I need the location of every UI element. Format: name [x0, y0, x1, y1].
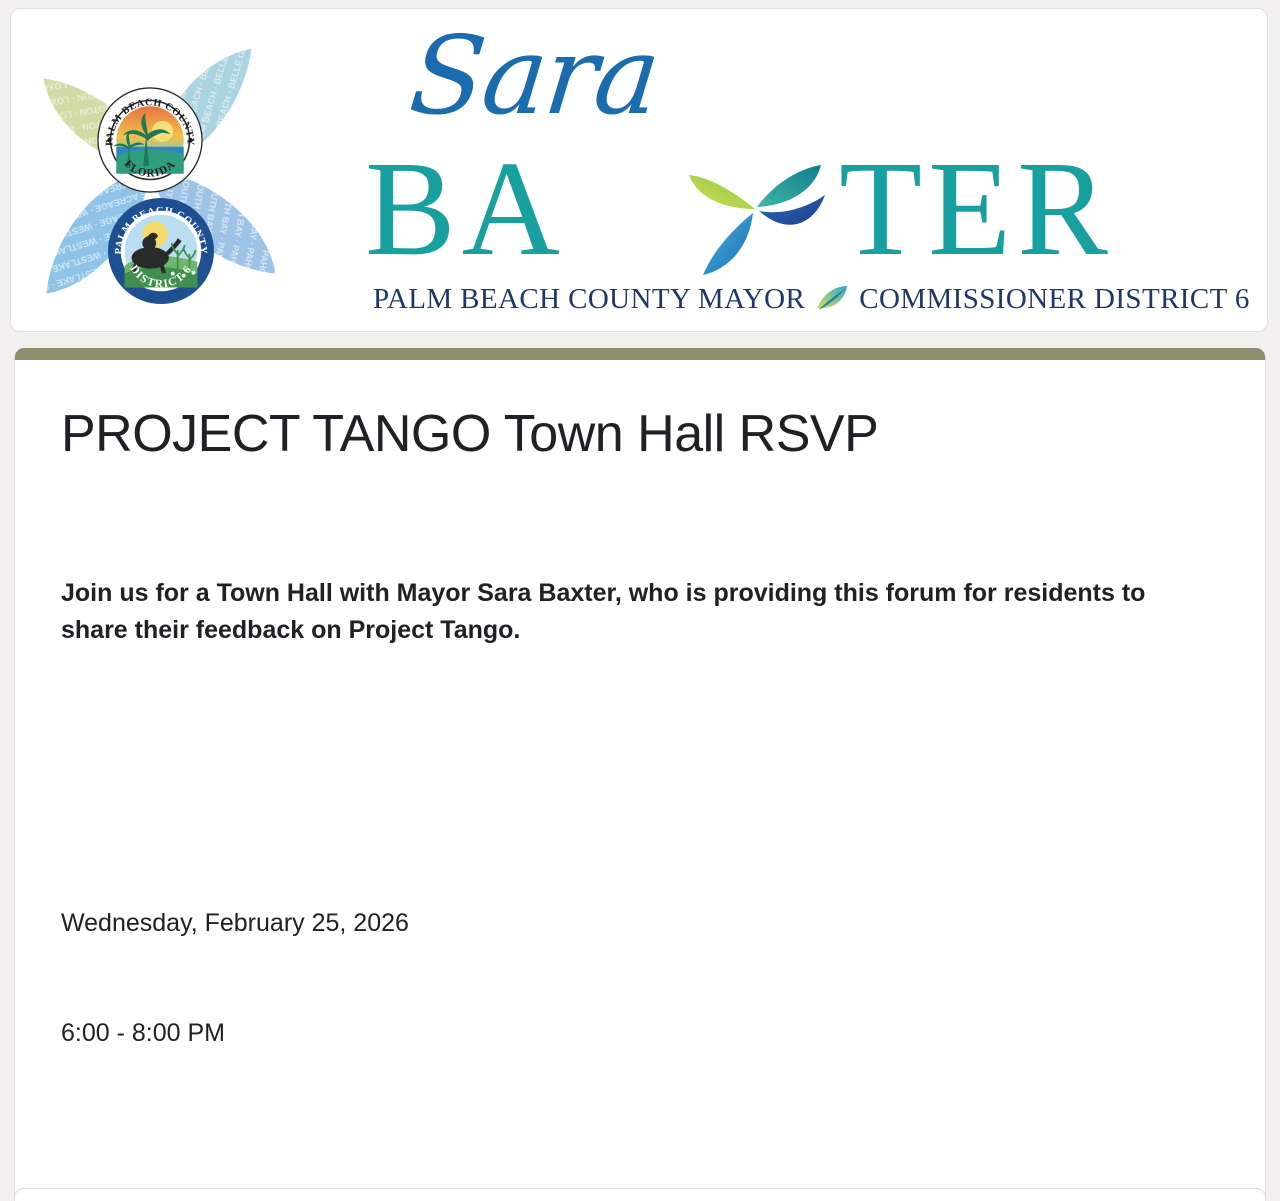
palm-beach-county-seal-icon: PALM BEACH COUNTY FLORIDA	[97, 87, 203, 193]
banner-inner: ROYAL PALM BEACH · BELLE GLADE · LOXAHAT…	[11, 9, 1267, 331]
wordmark-first-name: Sara	[405, 23, 663, 131]
header-banner-image: ROYAL PALM BEACH · BELLE GLADE · LOXAHAT…	[10, 8, 1268, 332]
event-date-line: Wednesday, February 25, 2026	[61, 905, 1219, 942]
form-description: Join us for a Town Hall with Mayor Sara …	[61, 501, 1219, 1201]
tagline-leaf-icon	[815, 284, 849, 314]
form-title: PROJECT TANGO Town Hall RSVP	[61, 404, 1219, 465]
form-body: PROJECT TANGO Town Hall RSVP Join us for…	[15, 360, 1265, 1201]
form-description-intro: Join us for a Town Hall with Mayor Sara …	[61, 575, 1219, 649]
district-6-seal-icon: PALM BEACH COUNTY DISTRICT 6	[107, 197, 215, 305]
wordmark-tagline: PALM BEACH COUNTY MAYOR COMMI	[373, 279, 1243, 319]
tagline-commissioner-text: COMMISSIONER DISTRICT 6	[859, 283, 1250, 316]
rsvp-form-card: PROJECT TANGO Town Hall RSVP Join us for…	[14, 348, 1266, 1201]
sara-baxter-wordmark: Sara BA	[359, 17, 1259, 327]
form-page: ROYAL PALM BEACH · BELLE GLADE · LOXAHAT…	[0, 0, 1280, 1201]
wordmark-surname-part-2: TER	[839, 139, 1114, 279]
tagline-mayor-text: PALM BEACH COUNTY MAYOR	[373, 283, 805, 316]
wordmark-surname-part-1: BA	[365, 139, 566, 279]
description-spacer-1	[61, 759, 1219, 795]
wordmark-surname-row: BA	[359, 139, 1239, 279]
event-time-line: 6:00 - 8:00 PM	[61, 1015, 1219, 1052]
four-petal-leaf-logo-icon	[675, 147, 835, 277]
next-section-card	[14, 1188, 1266, 1201]
form-accent-bar	[15, 348, 1265, 360]
